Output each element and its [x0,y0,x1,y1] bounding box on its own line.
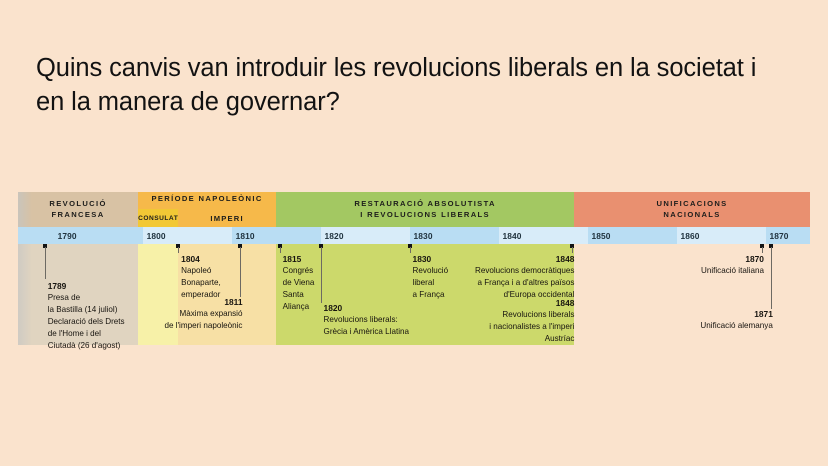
axis-tick-label-1840: 1840 [503,231,522,241]
event-text-line: i nacionalistes a l'imperi [489,321,574,333]
timeline-figure: REVOLUCIÓFRANCESAPERÍODE NAPOLEÒNICCONSU… [18,192,810,346]
event-year: 1848 [489,297,574,309]
era-title: UNIFICACIONSNACIONALS [657,199,728,221]
event-year: 1870 [701,253,764,265]
event-text-line: Napoleó [181,265,221,277]
event-text-line: Aliança [283,301,315,313]
event-text-line: Revolucions democràtiques [475,265,574,277]
event-text-line: Grècia i Amèrica Llatina [324,326,409,338]
event-text-line: Revolucions liberals [489,309,574,321]
event-text-line: a França [413,289,449,301]
event-1811: 1811Màxima expansióde l'imperi napoleòni… [164,296,242,332]
leader-line-1830 [410,247,411,253]
era-header-strip: REVOLUCIÓFRANCESAPERÍODE NAPOLEÒNICCONSU… [18,192,810,227]
leader-line-1789 [45,247,46,279]
axis-tick-label-1820: 1820 [325,231,344,241]
era-band-revolucio-francesa: REVOLUCIÓFRANCESA [18,192,138,227]
event-text-line: Revolucions liberals: [324,314,409,326]
leader-line-1811 [240,247,241,297]
event-text-line: Unificació italiana [701,265,764,277]
event-1804: 1804NapoleóBonaparte,emperador [181,253,221,301]
event-text-line: Austríac [489,333,574,345]
page-title: Quins canvis van introduir les revolucio… [36,52,776,120]
event-year: 1815 [283,253,315,265]
event-text-line: Presa de [48,292,125,304]
event-year: 1820 [324,302,409,314]
axis-tick-label-1870: 1870 [770,231,789,241]
event-1789: 1789Presa dela Bastilla (14 juliol)Decla… [48,280,125,352]
event-text-line: de Viena [283,277,315,289]
event-text-line: Màxima expansió [164,308,242,320]
era-subdivision-consulat: CONSULAT [138,209,178,227]
era-subdivision-imperi: IMPERI [178,209,276,227]
event-text-line: Congrés [283,265,315,277]
event-text-line: Ciutadà (26 d'agost) [48,340,125,352]
event-text-line: Bonaparte, [181,277,221,289]
axis-tick-label-1800: 1800 [147,231,166,241]
event-1848-b: 1848Revolucions liberalsi nacionalistes … [489,297,574,345]
axis-tick-label-1830: 1830 [414,231,433,241]
era-band-periode-napoleonic: PERÍODE NAPOLEÒNICCONSULATIMPERI [138,192,276,227]
event-1830: 1830Revolucióliberala França [413,253,449,301]
leader-line-1804 [178,247,179,253]
leader-line-1871 [771,247,772,309]
event-year: 1789 [48,280,125,292]
left-edge-fade [18,192,32,227]
date-axis: 179018001810182018301840185018601870 [18,227,810,244]
event-year: 1830 [413,253,449,265]
event-text-line: Santa [283,289,315,301]
event-text-line: Revolució [413,265,449,277]
axis-tick-label-1790: 1790 [58,231,77,241]
axis-tick-label-1810: 1810 [236,231,255,241]
event-year: 1848 [475,253,574,265]
leader-line-1815 [280,247,281,253]
event-year: 1871 [700,308,772,320]
event-text-line: liberal [413,277,449,289]
era-title: PERÍODE NAPOLEÒNIC [138,194,276,205]
event-year: 1804 [181,253,221,265]
event-text-line: Declaració dels Drets [48,316,125,328]
event-year: 1811 [164,296,242,308]
axis-lead-segment [18,227,54,244]
event-1815: 1815Congrésde VienaSantaAliança [283,253,315,313]
leader-line-1820 [321,247,322,303]
era-band-unificacions-nacionals: UNIFICACIONSNACIONALS [574,192,810,227]
event-text-line: de l'Home i del [48,328,125,340]
timeline-body: 1789Presa dela Bastilla (14 juliol)Decla… [18,244,810,345]
era-band-restauracio-absolutista: RESTAURACIÓ ABSOLUTISTAI REVOLUCIONS LIB… [276,192,574,227]
event-text-line: la Bastilla (14 juliol) [48,304,125,316]
event-text-line: de l'imperi napoleònic [164,320,242,332]
lane-unificacions [574,244,810,345]
axis-tick-label-1860: 1860 [681,231,700,241]
event-1848-a: 1848Revolucions democràtiquesa França i … [475,253,574,301]
event-1871: 1871Unificació alemanya [700,308,772,332]
era-title: RESTAURACIÓ ABSOLUTISTAI REVOLUCIONS LIB… [354,199,495,221]
event-1870: 1870Unificació italiana [701,253,764,277]
event-1820: 1820Revolucions liberals:Grècia i Amèric… [324,302,409,338]
era-title: REVOLUCIÓFRANCESA [49,199,106,221]
left-edge-fade-body [18,244,32,345]
era-subdivision-row: CONSULATIMPERI [138,209,276,227]
event-text-line: Unificació alemanya [700,320,772,332]
axis-tick-label-1850: 1850 [592,231,611,241]
event-text-line: a França i a d'altres països [475,277,574,289]
